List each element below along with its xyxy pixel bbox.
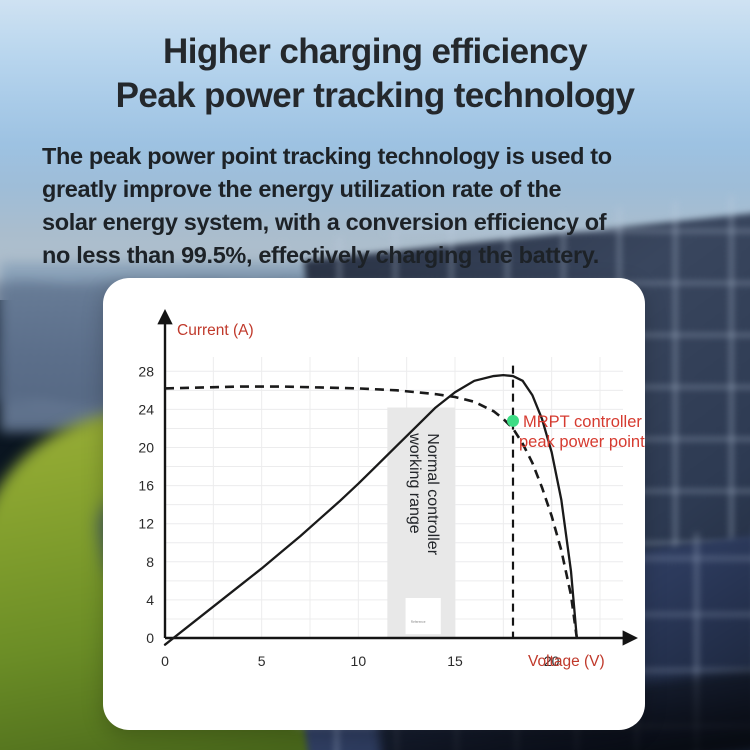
y-tick-label: 4 xyxy=(146,592,154,608)
iv-curve-chart: 0481216202428 05101520 Current (A) Volta… xyxy=(103,278,645,730)
x-tick-label: 15 xyxy=(447,653,463,669)
x-tick-label: 10 xyxy=(351,653,367,669)
chart-card: 0481216202428 05101520 Current (A) Volta… xyxy=(103,278,645,730)
description-line-3: solar energy system, with a conversion e… xyxy=(42,206,714,239)
y-axis-tick-labels: 0481216202428 xyxy=(138,363,154,646)
description-line-2: greatly improve the energy utilization r… xyxy=(42,173,714,206)
x-axis-tick-labels: 05101520 xyxy=(161,653,560,669)
band-label-line-2: working range xyxy=(406,432,423,534)
description-line-4: no less than 99.5%, effectively charging… xyxy=(42,239,714,272)
page-title: Higher charging efficiency Peak power tr… xyxy=(0,30,750,118)
poster-root: Higher charging efficiency Peak power tr… xyxy=(0,0,750,750)
peak-power-point xyxy=(507,415,519,427)
y-tick-label: 24 xyxy=(138,401,154,417)
description-text: The peak power point tracking technology… xyxy=(42,140,714,272)
peak-power-point-marker xyxy=(507,415,519,427)
band-inner-card xyxy=(406,598,441,634)
y-tick-label: 20 xyxy=(138,439,154,455)
y-tick-label: 0 xyxy=(146,630,154,646)
x-tick-label: 5 xyxy=(258,653,266,669)
band-label-line-1: Normal controller xyxy=(424,433,441,555)
description-line-1: The peak power point tracking technology… xyxy=(42,140,714,173)
y-axis-title: Current (A) xyxy=(177,322,254,339)
band-micro-note: Reference xyxy=(411,620,426,624)
x-tick-label: 0 xyxy=(161,653,169,669)
headline-line-1: Higher charging efficiency xyxy=(163,32,587,71)
peak-point-label-line-2: peak power point xyxy=(519,433,645,451)
peak-point-label-line-1: MRPT controller xyxy=(523,413,642,431)
x-axis-title: Voltage (V) xyxy=(528,653,605,670)
headline-line-2: Peak power tracking technology xyxy=(0,74,750,118)
y-tick-label: 28 xyxy=(138,363,154,379)
y-tick-label: 8 xyxy=(146,554,154,570)
y-tick-label: 12 xyxy=(138,516,154,532)
y-tick-label: 16 xyxy=(138,478,154,494)
